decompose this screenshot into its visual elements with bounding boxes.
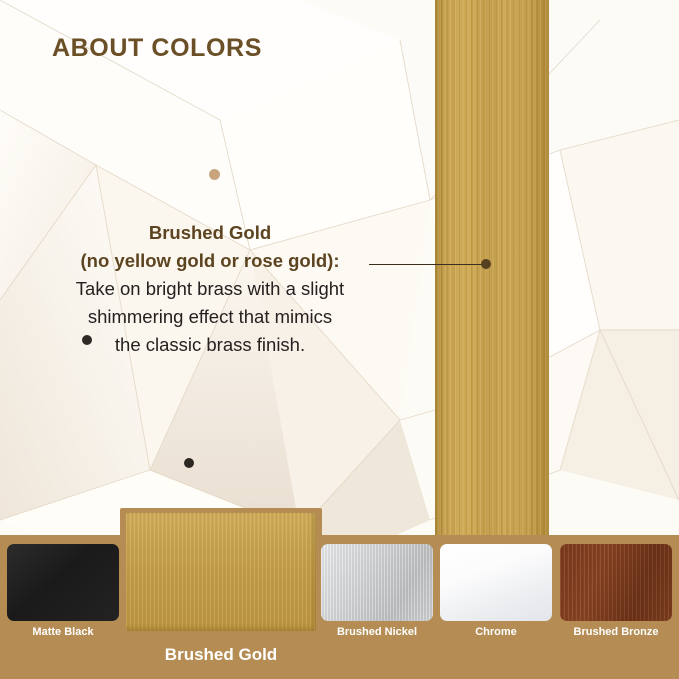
swatch-label-brushed-bronze: Brushed Bronze [560,626,672,638]
callout-line-2: (no yellow gold or rose gold): [40,247,380,275]
swatch-label-brushed-gold: Brushed Gold [120,645,322,665]
swatch-label-chrome: Chrome [440,626,552,638]
swatch-brushed-bronze[interactable] [560,544,672,621]
about-colors-infographic: ABOUT COLORS Brushed Gold (no yellow gol… [0,0,679,679]
swatch-label-matte-black: Matte Black [7,626,119,638]
swatch-chrome[interactable] [440,544,552,621]
brushed-gold-panel [435,0,549,545]
callout-line-1: Brushed Gold [40,219,380,247]
decorative-dot-icon [82,335,92,345]
callout-leader-dot-icon [481,259,491,269]
callout-line-5: the classic brass finish. [40,331,380,359]
swatch-brushed-gold[interactable] [126,513,316,631]
callout-line-3: Take on bright brass with a slight [40,275,380,303]
callout-line-4: shimmering effect that mimics [40,303,380,331]
decorative-dot-icon [209,169,220,180]
page-title: ABOUT COLORS [52,34,262,63]
decorative-dot-icon [184,458,194,468]
swatch-matte-black[interactable] [7,544,119,621]
swatch-label-brushed-nickel: Brushed Nickel [321,626,433,638]
swatch-brushed-nickel[interactable] [321,544,433,621]
callout-leader-line [369,264,486,265]
